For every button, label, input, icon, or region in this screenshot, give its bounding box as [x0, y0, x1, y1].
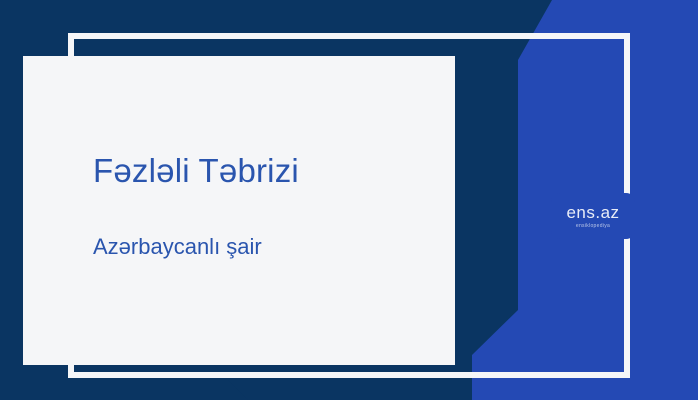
logo-tagline: ensiklopediya: [576, 224, 610, 229]
text-block: Fəzləli Təbrizi Azərbaycanlı şair: [93, 152, 453, 260]
content-panel: Fəzləli Təbrizi Azərbaycanlı şair: [23, 56, 455, 365]
page-title: Fəzləli Təbrizi: [93, 152, 453, 190]
ensaz-logo-badge[interactable]: ens.az ensiklopediya: [551, 193, 635, 239]
info-card: Fəzləli Təbrizi Azərbaycanlı şair ens.az…: [0, 0, 698, 400]
page-subtitle: Azərbaycanlı şair: [93, 190, 453, 260]
logo-wordmark: ens.az: [566, 204, 619, 221]
